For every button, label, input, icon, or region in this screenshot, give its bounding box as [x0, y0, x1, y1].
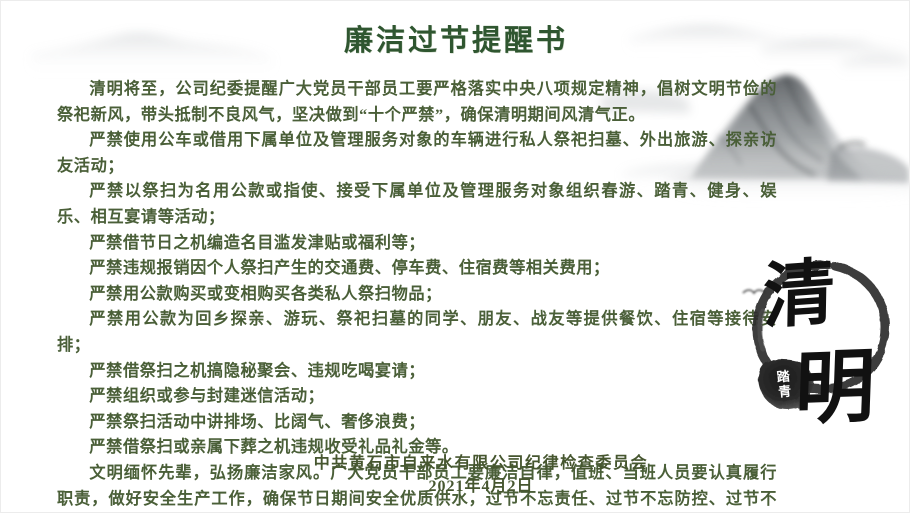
paragraph-ban-8: 严禁组织或参与封建迷信活动；	[57, 384, 777, 410]
ink-wash-slope-right	[827, 143, 909, 183]
calligraphy-stamp: 清 明 踏 青	[743, 253, 905, 463]
body-text-block: 清明将至，公司纪委提醒广大党员干部员工要严格落实中央八项规定精神，倡树文明节俭的…	[57, 77, 777, 513]
paragraph-ban-5: 严禁用公款购买或变相购买各类私人祭扫物品；	[57, 282, 777, 308]
paragraph-ban-4: 严禁违规报销因个人祭扫产生的交通费、停车费、住宿费等相关费用；	[57, 256, 777, 282]
paragraph-ban-7: 严禁借祭扫之机搞隐秘聚会、违规吃喝宴请；	[57, 359, 777, 385]
paragraph-ban-6: 严禁用公款为回乡探亲、游玩、祭祀扫墓的同学、朋友、战友等提供餐饮、住宿等接待安排…	[57, 307, 777, 358]
poster-canvas: 廉洁过节提醒书 清明将至，公司纪委提醒广大党员干部员工要严格落实中央八项规定精神…	[0, 0, 910, 513]
paragraph-intro: 清明将至，公司纪委提醒广大党员干部员工要严格落实中央八项规定精神，倡树文明节俭的…	[57, 77, 777, 128]
paragraph-ban-9: 严禁祭扫活动中讲排场、比阔气、奢侈浪费；	[57, 410, 777, 436]
paragraph-ban-1: 严禁使用公车或借用下属单位及管理服务对象的车辆进行私人祭祀扫墓、外出旅游、探亲访…	[57, 128, 777, 179]
ink-blot-seal	[759, 359, 813, 409]
page-title: 廉洁过节提醒书	[1, 23, 910, 61]
paragraph-ban-2: 严禁以祭扫为名用公款或指使、接受下属单位及管理服务对象组织春游、踏青、健身、娱乐…	[57, 179, 777, 230]
signature-date: 2021年4月2日	[251, 475, 711, 499]
signature-block: 中共黄石市自来水有限公司纪律检查委员会 2021年4月2日	[251, 453, 711, 499]
signature-organization: 中共黄石市自来水有限公司纪律检查委员会	[251, 453, 711, 475]
paragraph-ban-3: 严禁借节日之机编造名目滥发津贴或福利等；	[57, 231, 777, 257]
